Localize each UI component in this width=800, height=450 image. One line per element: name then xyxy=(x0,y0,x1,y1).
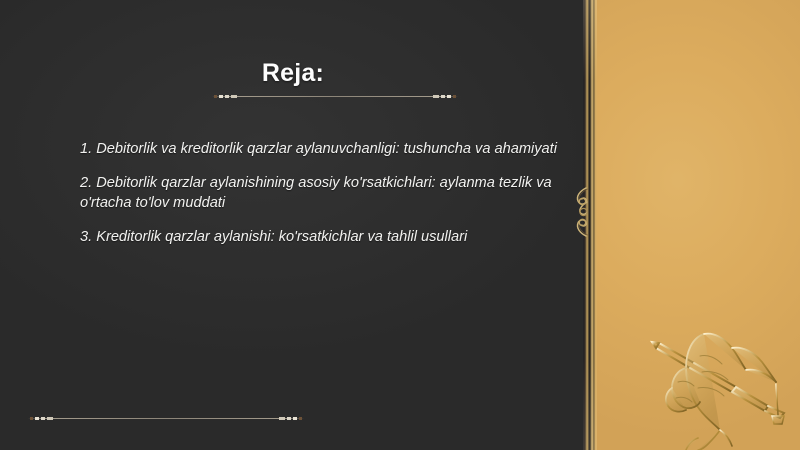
title-block: Reja: xyxy=(0,60,586,86)
scroll-flourish-icon xyxy=(566,186,594,238)
agenda-list: 1. Debitorlik va kreditorlik qarzlar ayl… xyxy=(80,139,570,248)
rule-line xyxy=(212,96,458,97)
rule-tick-left-icon xyxy=(214,95,240,98)
rule-line xyxy=(28,418,304,419)
rule-tick-right-icon xyxy=(276,417,302,420)
rule-tick-right-icon xyxy=(430,95,456,98)
list-item: 1. Debitorlik va kreditorlik qarzlar ayl… xyxy=(80,139,570,160)
rule-tick-left-icon xyxy=(30,417,56,420)
title-divider-rule xyxy=(212,95,458,98)
presentation-slide: Reja: 1. Debitorlik va kreditorlik qarzl… xyxy=(0,0,800,450)
bottom-divider-rule xyxy=(28,417,304,420)
hand-holding-pen-icon xyxy=(628,312,800,450)
list-item: 3. Kreditorlik qarzlar aylanishi: ko'rsa… xyxy=(80,227,570,248)
page-title: Reja: xyxy=(262,60,324,86)
list-item: 2. Debitorlik qarzlar aylanishining asos… xyxy=(80,173,570,214)
